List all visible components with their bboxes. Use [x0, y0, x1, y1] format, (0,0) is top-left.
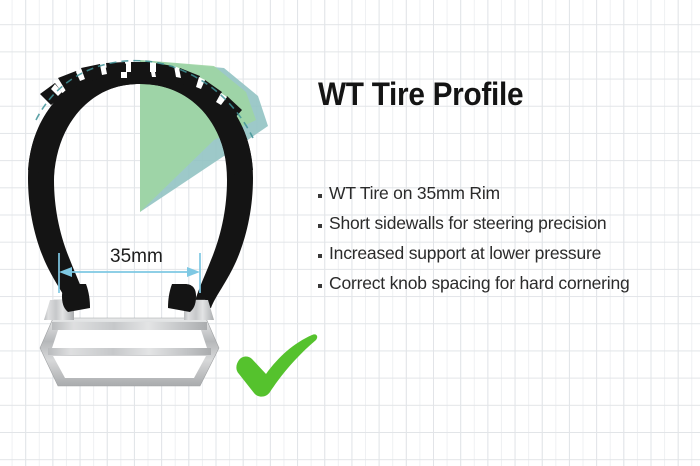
dimension-arrowhead-right — [187, 267, 200, 277]
list-item: WT Tire on 35mm Rim — [318, 185, 698, 203]
bullet-square-icon — [318, 194, 322, 198]
infographic-canvas: WT Tire Profile WT Tire on 35mm Rim Shor… — [0, 0, 700, 466]
rim-cavity-upper — [52, 330, 207, 348]
bullet-square-icon — [318, 254, 322, 258]
dimension-label: 35mm — [110, 246, 163, 268]
bullet-square-icon — [318, 284, 322, 288]
list-item: Short sidewalls for steering precision — [318, 215, 698, 233]
list-item: Increased support at lower pressure — [318, 245, 698, 263]
wheel-rim — [40, 300, 219, 386]
feature-list: WT Tire on 35mm Rim Short sidewalls for … — [318, 185, 698, 305]
text-panel: WT Tire Profile WT Tire on 35mm Rim Shor… — [318, 78, 688, 112]
tire-bead — [62, 284, 196, 312]
list-item: Correct knob spacing for hard cornering — [318, 275, 698, 293]
list-item-label: Short sidewalls for steering precision — [329, 215, 606, 233]
page-title: WT Tire Profile — [318, 78, 662, 112]
list-item-label: WT Tire on 35mm Rim — [329, 185, 500, 203]
list-item-label: Correct knob spacing for hard cornering — [329, 275, 630, 293]
approved-check-icon — [236, 334, 317, 396]
list-item-label: Increased support at lower pressure — [329, 245, 601, 263]
rim-cavity-lower — [53, 356, 206, 378]
bullet-square-icon — [318, 224, 322, 228]
